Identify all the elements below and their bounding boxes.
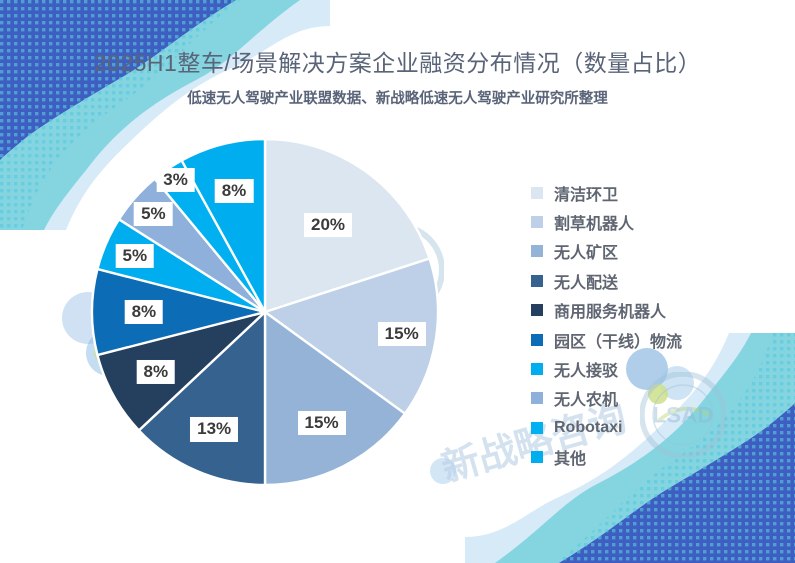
pie-slice-label: 13% <box>190 417 238 441</box>
pie-slice-label: 15% <box>378 322 426 346</box>
pie-slice-label: 15% <box>298 411 346 435</box>
legend-label: 无人矿区 <box>554 239 618 263</box>
legend-label: 无人配送 <box>554 269 618 293</box>
legend-item[interactable]: Robotaxi <box>531 413 682 442</box>
pie-slice-label: 3% <box>156 168 195 192</box>
legend-label: 无人农机 <box>554 386 618 410</box>
page-title: 2025H1整车/场景解决方案企业融资分布情况（数量占比） <box>0 44 795 78</box>
legend-swatch <box>531 216 543 228</box>
pie-chart: 20%15%15%13%8%8%5%5%3%8% <box>78 132 468 492</box>
legend-swatch <box>531 245 543 257</box>
chart-canvas: 2025H1整车/场景解决方案企业融资分布情况（数量占比） 低速无人驾驶产业联盟… <box>0 0 795 563</box>
legend-item[interactable]: 商用服务机器人 <box>531 296 682 325</box>
legend-swatch <box>531 334 543 346</box>
chart-legend: 清洁环卫割草机器人无人矿区无人配送商用服务机器人园区（干线）物流无人接驳无人农机… <box>531 178 682 472</box>
page-subtitle: 低速无人驾驶产业联盟数据、新战略低速无人驾驶产业研究所整理 <box>0 87 795 108</box>
pie-slice-label: 20% <box>304 213 352 237</box>
legend-label: 割草机器人 <box>554 210 634 234</box>
legend-swatch <box>531 363 543 375</box>
legend-swatch <box>531 451 543 463</box>
legend-item[interactable]: 无人配送 <box>531 266 682 295</box>
legend-swatch <box>531 304 543 316</box>
legend-label: 其他 <box>554 445 586 469</box>
legend-label: 商用服务机器人 <box>554 298 666 322</box>
legend-item[interactable]: 割草机器人 <box>531 207 682 236</box>
legend-item[interactable]: 清洁环卫 <box>531 178 682 207</box>
legend-item[interactable]: 无人矿区 <box>531 237 682 266</box>
chart-title-block: 2025H1整车/场景解决方案企业融资分布情况（数量占比） 低速无人驾驶产业联盟… <box>0 44 795 108</box>
legend-swatch <box>531 392 543 404</box>
pie-slice-label: 8% <box>215 179 254 203</box>
pie-slice-label: 5% <box>116 244 155 268</box>
pie-slice-label: 8% <box>125 300 164 324</box>
legend-swatch <box>531 187 543 199</box>
legend-label: 清洁环卫 <box>554 181 618 205</box>
legend-item[interactable]: 其他 <box>531 443 682 472</box>
legend-label: Robotaxi <box>554 419 622 437</box>
legend-label: 无人接驳 <box>554 357 618 381</box>
legend-swatch <box>531 422 543 434</box>
legend-label: 园区（干线）物流 <box>554 328 682 352</box>
legend-item[interactable]: 无人接驳 <box>531 354 682 383</box>
legend-swatch <box>531 275 543 287</box>
pie-slice-label: 8% <box>137 360 176 384</box>
legend-item[interactable]: 园区（干线）物流 <box>531 325 682 354</box>
pie-slice-label: 5% <box>134 202 173 226</box>
legend-item[interactable]: 无人农机 <box>531 384 682 413</box>
